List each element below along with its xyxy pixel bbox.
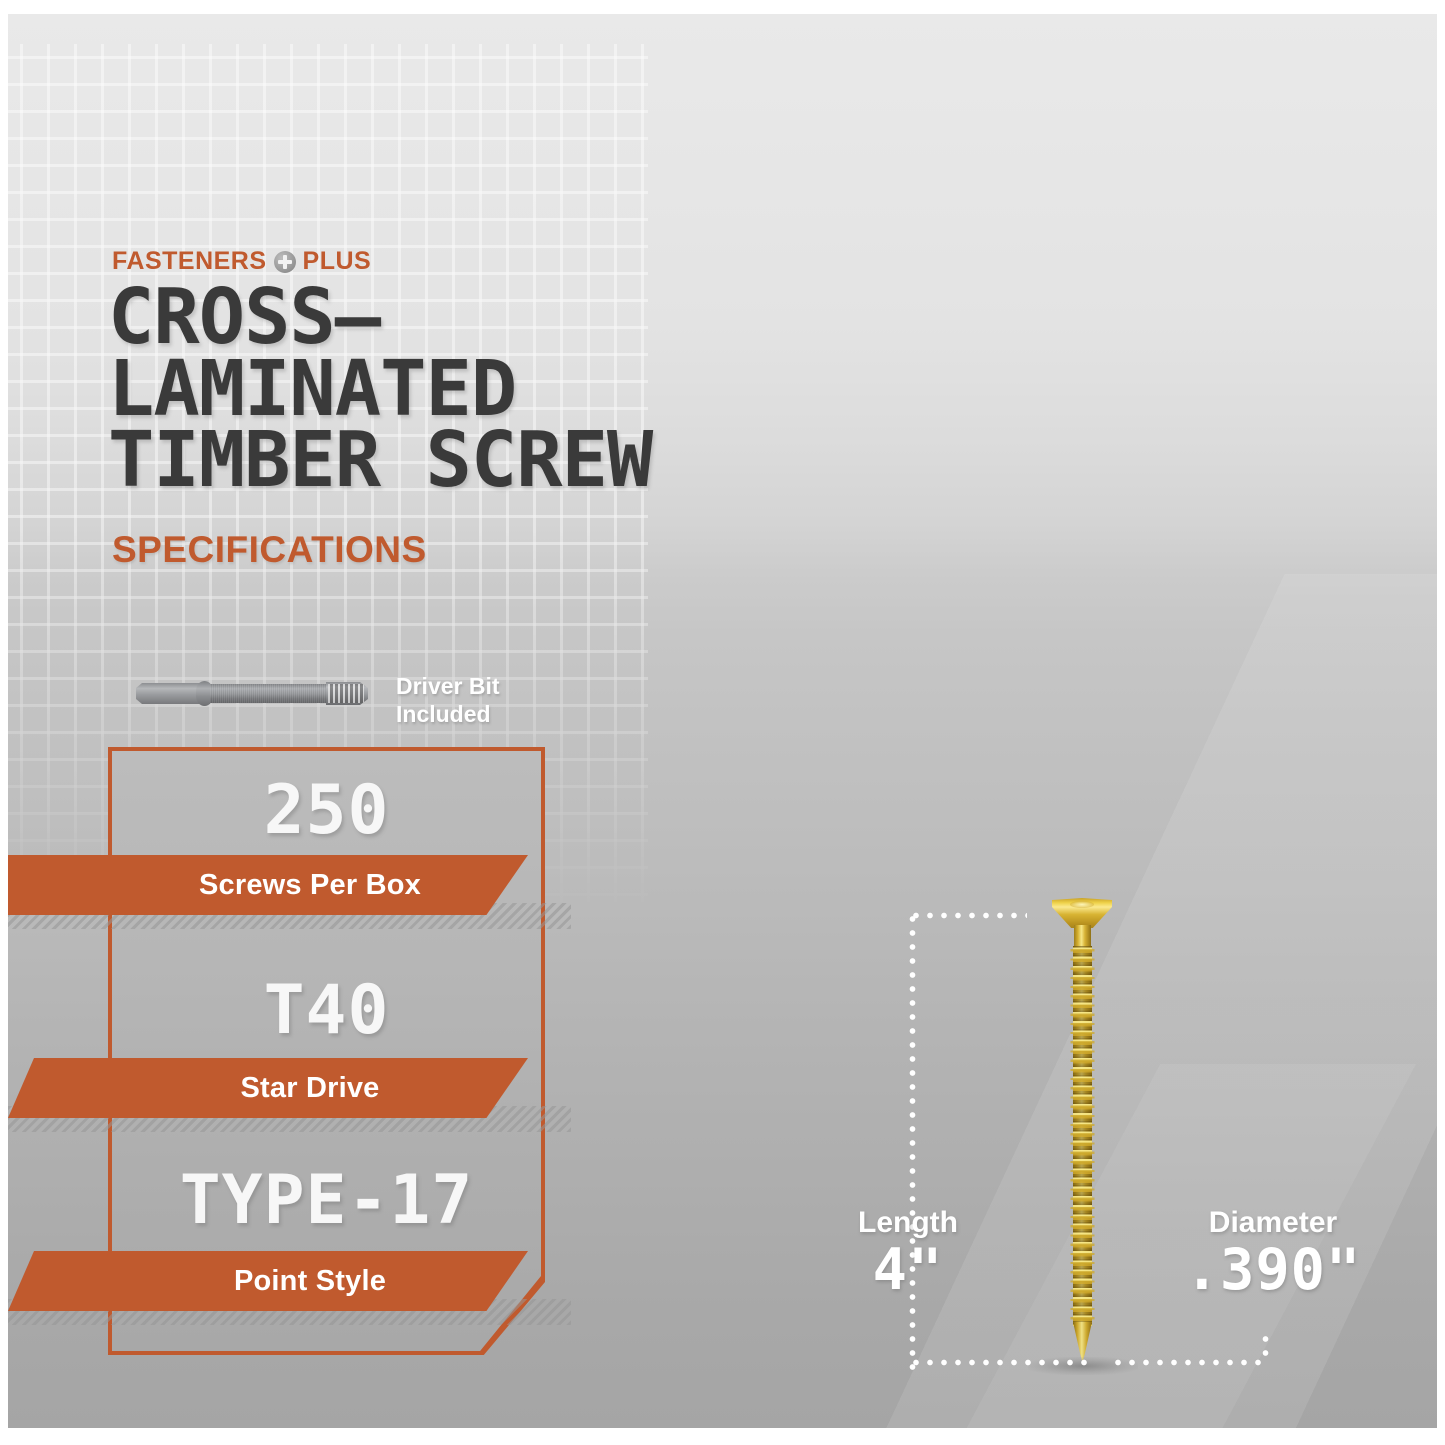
spec-banner-star-drive: Star Drive — [8, 1058, 528, 1118]
spec-value-point-style: TYPE-17 — [108, 1161, 545, 1240]
torx-driver-bit-icon — [136, 676, 368, 710]
title-line-3: TIMBER SCREW — [108, 425, 1008, 497]
diameter-dimension: Diameter .390" — [1128, 1206, 1418, 1303]
diameter-value: .390" — [1128, 1239, 1418, 1303]
page-title: CROSS– LAMINATED TIMBER SCREW — [108, 282, 1008, 497]
driver-bit-label-line-2: Included — [396, 701, 491, 727]
spec-value-star-drive: T40 — [108, 971, 545, 1050]
screw-threaded-shank — [1073, 946, 1092, 1326]
screw-countersunk-head — [1052, 898, 1112, 928]
brand-name-left: FASTENERS — [112, 249, 267, 274]
spec-banner-screws-per-box: Screws Per Box — [8, 855, 528, 915]
spec-banner-point-style: Point Style — [8, 1251, 528, 1311]
diameter-guide-right-line — [1111, 1359, 1269, 1366]
length-guide-top-tick — [909, 912, 1027, 919]
diameter-guide-left-line — [909, 1359, 1095, 1366]
brand-name-right: PLUS — [303, 249, 372, 274]
length-label: Length — [783, 1206, 1033, 1239]
screw-type17-point — [1073, 1322, 1092, 1362]
length-value: 4" — [783, 1239, 1033, 1303]
spec-label-star-drive: Star Drive — [240, 1072, 379, 1105]
brand-logo: FASTENERS PLUS — [112, 249, 371, 274]
driver-bit-label: Driver Bit Included — [396, 672, 626, 728]
spec-label-point-style: Point Style — [234, 1265, 386, 1298]
spec-value-screws-per-box: 250 — [108, 771, 545, 850]
length-dimension: Length 4" — [783, 1206, 1033, 1303]
title-line-2: LAMINATED — [108, 354, 1008, 426]
title-line-1: CROSS– — [108, 282, 1008, 354]
bit-body — [210, 684, 328, 703]
diameter-label: Diameter — [1128, 1206, 1418, 1239]
driver-bit-label-line-1: Driver Bit — [396, 673, 500, 699]
screw-head-plus-icon — [274, 251, 296, 273]
subtitle-specifications: SPECIFICATIONS — [112, 529, 427, 571]
gold-wood-screw-icon — [1061, 898, 1103, 1358]
spec-label-screws-per-box: Screws Per Box — [199, 869, 421, 902]
diameter-guide-vertical-tick — [1262, 1332, 1269, 1362]
infographic-panel: FASTENERS PLUS CROSS– LAMINATED TIMBER S… — [8, 14, 1437, 1428]
product-spec-infographic: FASTENERS PLUS CROSS– LAMINATED TIMBER S… — [0, 0, 1445, 1445]
bit-torx-tip — [326, 682, 368, 705]
